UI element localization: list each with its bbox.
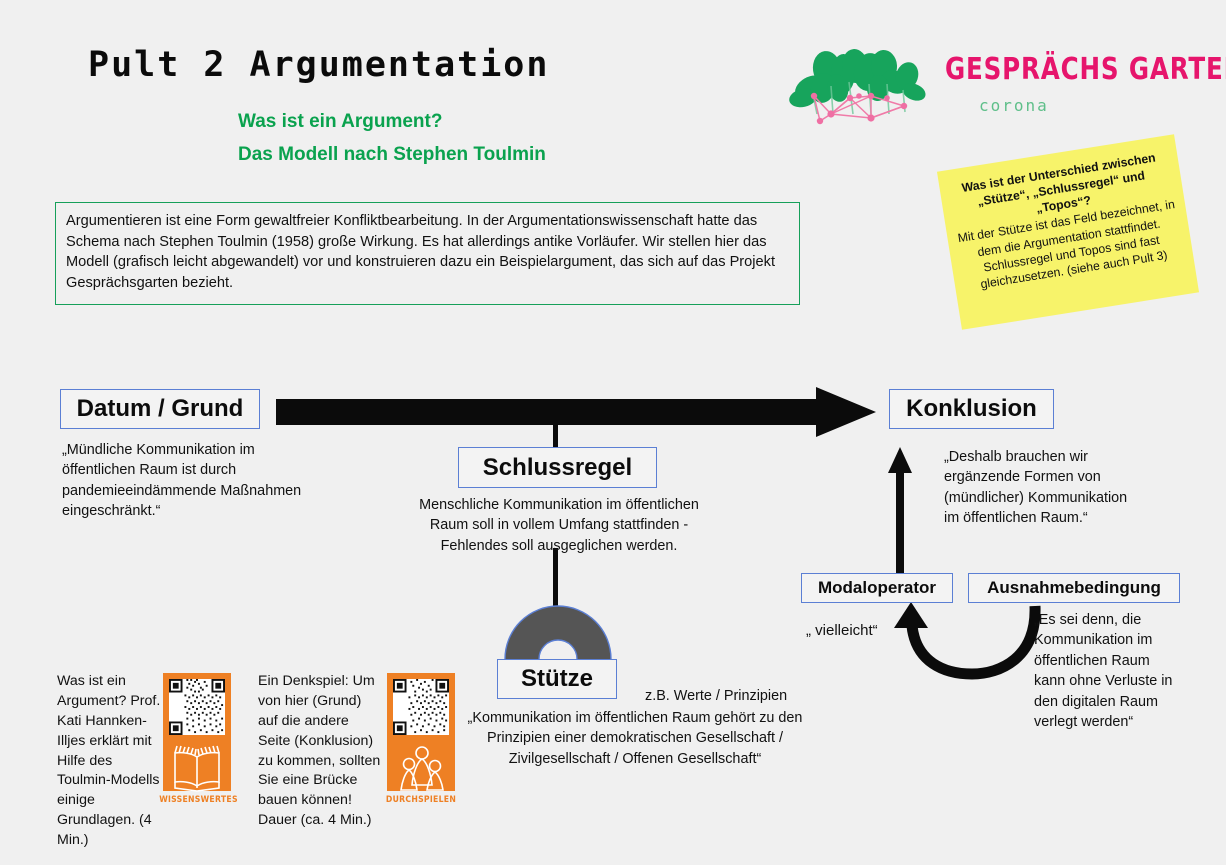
box-modaloperator[interactable]: Modaloperator (801, 573, 953, 603)
qr-card-wissenswertes[interactable]: WISSENSWERTES (163, 673, 239, 805)
qr-card-body[interactable] (387, 673, 455, 791)
text-stuetze: „Kommunikation im öffentlichen Raum gehö… (455, 708, 815, 769)
qr-caption-durchspielen: Ein Denkspiel: Um von hier (Grund) auf d… (258, 672, 383, 831)
box-stuetze[interactable]: Stütze (497, 659, 617, 699)
sticky-note: Was ist der Unterschied zwischen „Stütze… (937, 134, 1199, 330)
brand-logo: GESPRÄCHS GARTEN corona (783, 36, 1183, 140)
arrow-up-to-konklusion-icon (885, 447, 915, 582)
qr-card-body[interactable] (163, 673, 231, 791)
connector-schlussregel-to-stuetze (553, 548, 558, 608)
text-stuetze-heading: z.B. Werte / Prinzipien (645, 686, 845, 706)
qr-card-label: DURCHSPIELEN (383, 795, 459, 805)
subtitle-model: Das Modell nach Stephen Toulmin (238, 144, 546, 166)
qr-card-label: WISSENSWERTES (159, 795, 235, 805)
game-pieces-icon (393, 744, 449, 794)
intro-text: Argumentieren ist eine Form gewaltfreier… (66, 211, 789, 294)
text-konklusion: „Deshalb brauchen wir ergänzende Formen … (944, 447, 1144, 529)
qr-caption-wissenswertes: Was ist ein Argument? Prof. Kati Hannken… (57, 672, 167, 851)
page-title: Pult 2 Argumentation (88, 45, 549, 85)
box-datum-grund[interactable]: Datum / Grund (60, 389, 260, 429)
qr-code-icon[interactable] (169, 679, 225, 735)
open-book-icon (169, 744, 225, 794)
text-modaloperator: „ vielleicht“ (806, 620, 946, 641)
plant-network-logo-icon (783, 36, 933, 136)
logo-wordmark: GESPRÄCHS GARTEN (945, 52, 1226, 87)
main-flow-arrow-icon (276, 387, 876, 437)
subtitle-question: Was ist ein Argument? (238, 111, 442, 133)
text-ausnahmebedingung: „Es sei denn, die Kommunikation im öffen… (1034, 610, 1184, 733)
intro-box: Argumentieren ist eine Form gewaltfreier… (55, 202, 800, 305)
text-datum-grund: „Mündliche Kommunikation im öffentlichen… (62, 440, 302, 522)
qr-card-durchspielen[interactable]: DURCHSPIELEN (387, 673, 463, 805)
qr-code-icon[interactable] (393, 679, 449, 735)
logo-subtitle: corona (979, 96, 1049, 115)
support-arch-icon (503, 604, 613, 662)
box-ausnahmebedingung[interactable]: Ausnahmebedingung (968, 573, 1180, 603)
text-schlussregel: Menschliche Kommunikation im öffentliche… (414, 495, 704, 556)
box-konklusion[interactable]: Konklusion (889, 389, 1054, 429)
poster-canvas: Pult 2 Argumentation Was ist ein Argumen… (0, 0, 1226, 865)
box-schlussregel[interactable]: Schlussregel (458, 447, 657, 488)
